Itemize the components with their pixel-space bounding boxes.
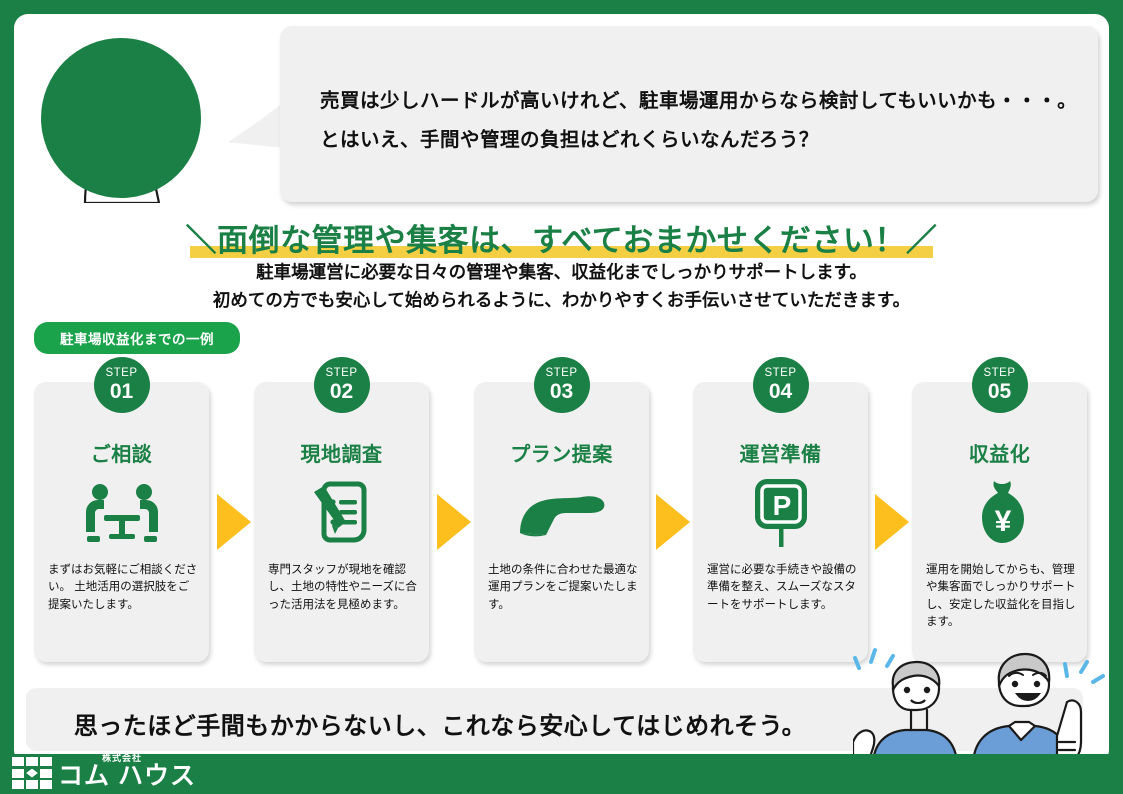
logo-company-name: コム ハウス bbox=[58, 764, 196, 789]
step-card-02[interactable]: STEP 02 現地調査 専門スタッフが現地を確認し、土地の特性やニーズに合った… bbox=[254, 382, 429, 662]
flow-arrow-3 bbox=[656, 494, 690, 550]
thinking-person-illustration bbox=[33, 28, 213, 203]
step-title-03: プラン提案 bbox=[474, 438, 649, 467]
step-card-03[interactable]: STEP 03 プラン提案 土地の条件に合わせた最適な運用プランをご提案いたしま… bbox=[474, 382, 649, 662]
green-circle-backdrop bbox=[41, 38, 201, 198]
step-desc-01: まずはお気軽にご相談ください。 土地活用の選択肢をご提案いたします。 bbox=[48, 562, 199, 614]
open-hand-icon bbox=[474, 478, 649, 548]
subtext-line-2: 初めての方でも安心して始められるように、わかりやすくお手伝いさせていただきます。 bbox=[0, 286, 1123, 314]
document-pencil-icon bbox=[254, 478, 429, 548]
headline-subtext: 駐車場運営に必要な日々の管理や集客、収益化までしっかりサポートします。 初めての… bbox=[0, 258, 1123, 315]
steps-container: STEP 01 ご相談 まずはお気軽にご相談ください。 土地活用の選択肢をご提案… bbox=[34, 382, 1092, 667]
logo-grid-mark bbox=[12, 757, 52, 789]
flow-arrow-2 bbox=[437, 494, 471, 550]
footer-message: 思ったほど手間もかからないし、これなら安心してはじめれそう。 bbox=[0, 706, 880, 741]
step-desc-03: 土地の条件に合わせた最適な運用プランをご提案いたします。 bbox=[488, 562, 639, 614]
step-num-04: 04 bbox=[769, 381, 792, 402]
step-card-05[interactable]: STEP 05 収益化 ¥ 運用を開始してからも、管理や集客面でしっかりサポート… bbox=[912, 382, 1087, 662]
slash-left: ＼ bbox=[186, 223, 218, 258]
step-card-04[interactable]: STEP 04 運営準備 P 運営に必要な手続きや設備の準備を整え、スムーズなス… bbox=[693, 382, 868, 662]
step-label-03: STEP bbox=[545, 368, 577, 380]
section-badge: 駐車場収益化までの一例 bbox=[34, 322, 240, 354]
step-num-05: 05 bbox=[988, 381, 1011, 402]
step-number-badge-05: STEP 05 bbox=[972, 357, 1028, 413]
elderly-couple-illustration bbox=[853, 646, 1113, 766]
speech-bubble: 売買は少しハードルが高いけれど、駐車場運用からなら検討してもいいかも・・・。 と… bbox=[280, 26, 1098, 202]
step-title-02: 現地調査 bbox=[254, 438, 429, 467]
step-num-02: 02 bbox=[330, 381, 353, 402]
step-number-badge-03: STEP 03 bbox=[534, 357, 590, 413]
step-label-01: STEP bbox=[105, 368, 137, 380]
step-num-01: 01 bbox=[110, 381, 133, 402]
speech-bubble-text: 売買は少しハードルが高いけれど、駐車場運用からなら検討してもいいかも・・・。 と… bbox=[320, 82, 1077, 160]
sparkle-left bbox=[855, 650, 893, 668]
step-title-01: ご相談 bbox=[34, 438, 209, 467]
headline: ＼面倒な管理や集客は、すべておまかせください！／ bbox=[180, 215, 944, 260]
subtext-line-1: 駐車場運営に必要な日々の管理や集客、収益化までしっかりサポートします。 bbox=[0, 258, 1123, 286]
step-label-05: STEP bbox=[983, 368, 1015, 380]
meeting-table-icon bbox=[34, 478, 209, 548]
headline-block: ＼面倒な管理や集客は、すべておまかせください！／ bbox=[0, 215, 1123, 260]
parking-sign-icon: P bbox=[693, 478, 868, 548]
bubble-line-2: とはいえ、手間や管理の負担はどれくらいなんだろう？ bbox=[320, 121, 1077, 160]
step-title-05: 収益化 bbox=[912, 438, 1087, 467]
flow-arrow-1 bbox=[217, 494, 251, 550]
step-desc-02: 専門スタッフが現地を確認し、土地の特性やニーズに合った活用法を見極めます。 bbox=[268, 562, 419, 614]
flow-arrow-4 bbox=[875, 494, 909, 550]
step-title-04: 運営準備 bbox=[693, 438, 868, 467]
step-card-01[interactable]: STEP 01 ご相談 まずはお気軽にご相談ください。 土地活用の選択肢をご提案… bbox=[34, 382, 209, 662]
headline-text: 面倒な管理や集客は、すべておまかせください！ bbox=[217, 223, 906, 258]
sparkle-right bbox=[1065, 662, 1103, 682]
company-logo: 株式会社 コム ハウス bbox=[12, 751, 196, 789]
bubble-line-1: 売買は少しハードルが高いけれど、駐車場運用からなら検討してもいいかも・・・。 bbox=[320, 82, 1077, 121]
step-desc-05: 運用を開始してからも、管理や集客面でしっかりサポートし、安定した収益化を目指しま… bbox=[926, 562, 1077, 632]
step-label-04: STEP bbox=[764, 368, 796, 380]
step-number-badge-04: STEP 04 bbox=[753, 357, 809, 413]
step-num-03: 03 bbox=[550, 381, 573, 402]
svg-text:P: P bbox=[772, 490, 791, 521]
step-number-badge-01: STEP 01 bbox=[94, 357, 150, 413]
logo-text-block: 株式会社 コム ハウス bbox=[58, 751, 196, 789]
money-bag-yen-icon: ¥ bbox=[912, 478, 1087, 548]
step-desc-04: 運営に必要な手続きや設備の準備を整え、スムーズなスタートをサポートします。 bbox=[707, 562, 858, 614]
svg-text:¥: ¥ bbox=[994, 505, 1011, 538]
slash-right: ／ bbox=[906, 223, 938, 258]
step-label-02: STEP bbox=[325, 368, 357, 380]
step-number-badge-02: STEP 02 bbox=[314, 357, 370, 413]
